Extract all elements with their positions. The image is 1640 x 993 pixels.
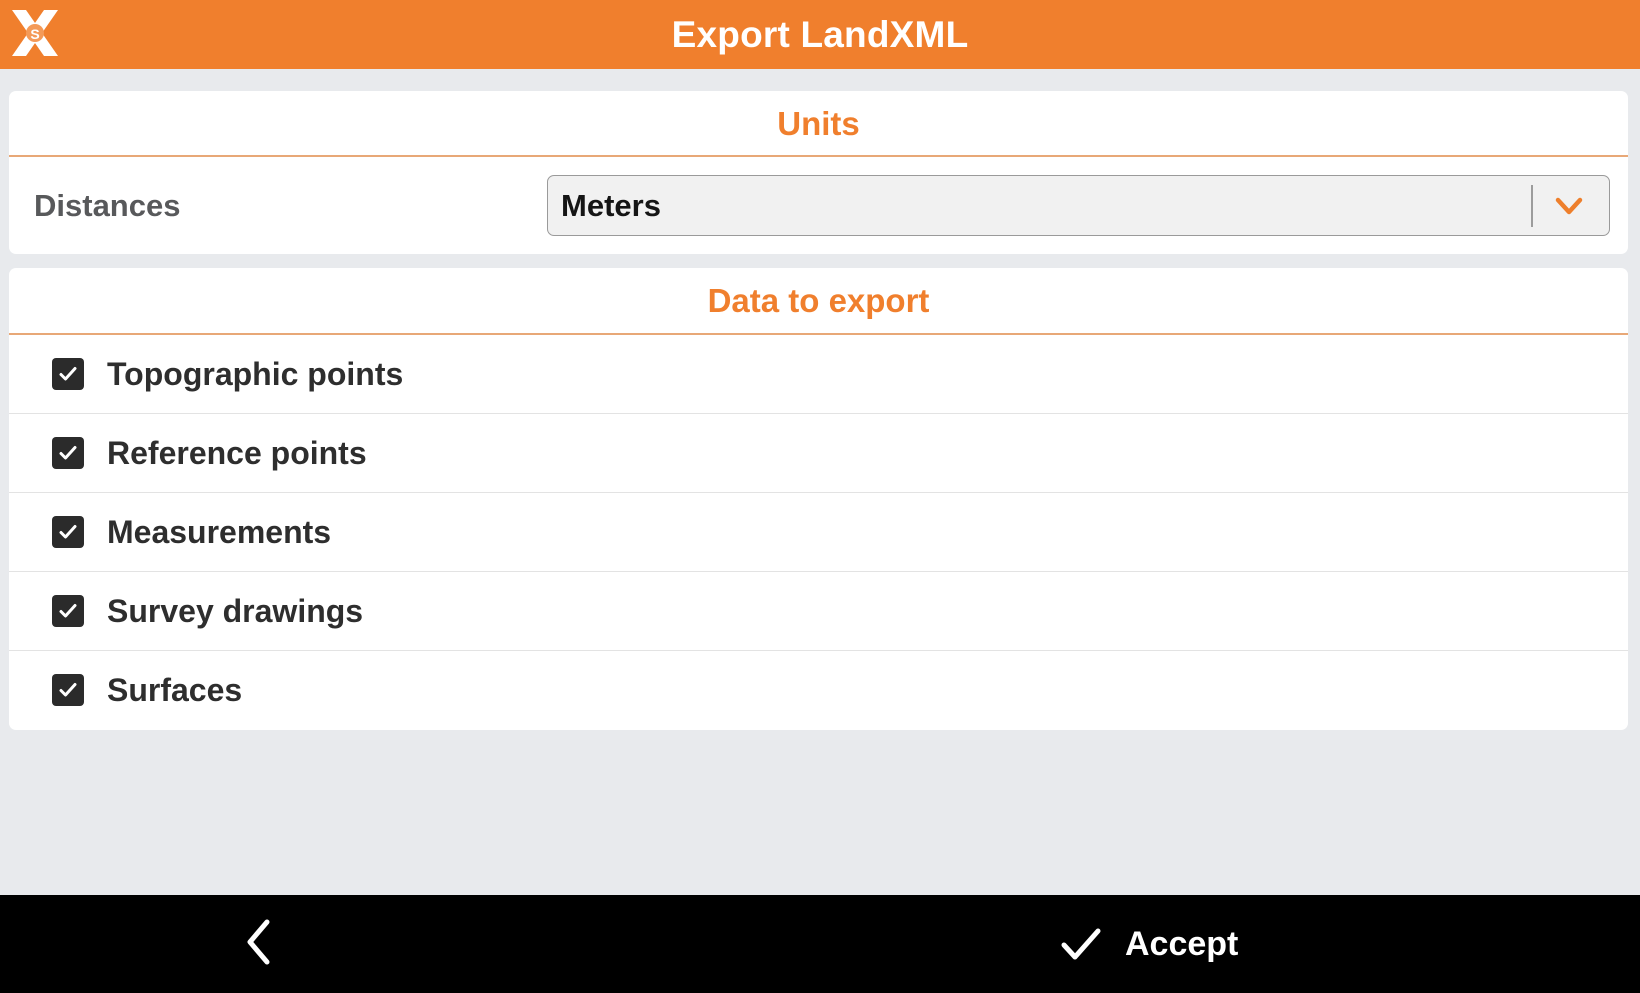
list-item-label: Survey drawings <box>107 595 363 627</box>
accept-button[interactable]: Accept <box>1055 895 1238 993</box>
title-bar: S Export LandXML <box>0 0 1640 69</box>
list-item-reference-points[interactable]: Reference points <box>9 414 1628 493</box>
checkbox-reference-points[interactable] <box>52 437 84 469</box>
chevron-left-icon <box>238 914 282 975</box>
svg-text:S: S <box>30 26 39 42</box>
app-logo-x-icon: S <box>8 7 62 59</box>
checkbox-measurements[interactable] <box>52 516 84 548</box>
page-title: Export LandXML <box>672 16 969 53</box>
back-button[interactable] <box>228 895 292 993</box>
check-icon <box>1055 918 1107 970</box>
list-item-label: Topographic points <box>107 358 403 390</box>
bottom-action-bar: Accept <box>0 895 1640 993</box>
checkbox-surfaces[interactable] <box>52 674 84 706</box>
accept-button-label: Accept <box>1125 927 1238 961</box>
data-to-export-section-header: Data to export <box>9 268 1628 334</box>
list-item-label: Reference points <box>107 437 367 469</box>
list-item-surfaces[interactable]: Surfaces <box>9 651 1628 730</box>
distances-label: Distances <box>34 188 180 224</box>
units-section-header: Units <box>9 91 1628 157</box>
chevron-down-icon[interactable] <box>1549 186 1589 226</box>
list-item-topographic-points[interactable]: Topographic points <box>9 335 1628 414</box>
distances-units-value: Meters <box>561 190 661 221</box>
list-item-label: Surfaces <box>107 674 242 706</box>
distances-units-dropdown[interactable]: Meters <box>547 175 1610 236</box>
dialog-content: Units Distances Meters Data to export <box>0 69 1640 895</box>
list-item-label: Measurements <box>107 516 331 548</box>
list-item-survey-drawings[interactable]: Survey drawings <box>9 572 1628 651</box>
dropdown-separator <box>1531 185 1533 227</box>
checkbox-survey-drawings[interactable] <box>52 595 84 627</box>
units-card: Units Distances Meters <box>9 91 1628 254</box>
list-item-measurements[interactable]: Measurements <box>9 493 1628 572</box>
data-to-export-card: Data to export Topographic points Refere… <box>9 268 1628 729</box>
checkbox-topographic-points[interactable] <box>52 358 84 390</box>
distances-row: Distances Meters <box>9 157 1628 254</box>
